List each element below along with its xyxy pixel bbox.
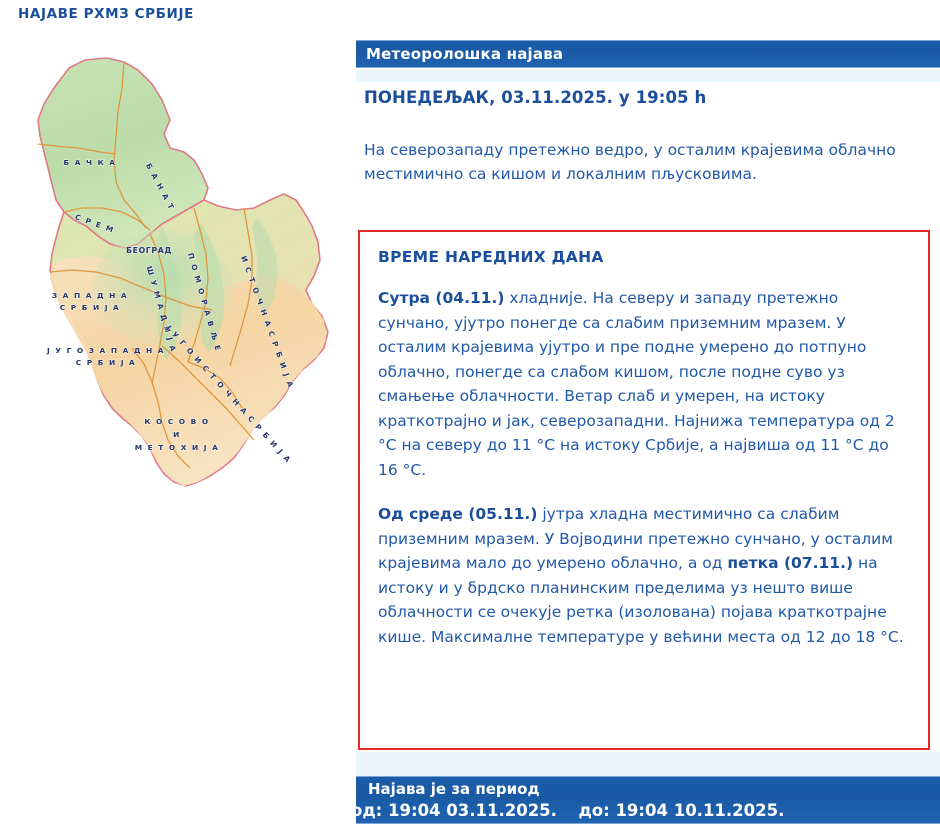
outlook-lead-tomorrow: Сутра (04.11.): [378, 289, 505, 307]
meteo-announcement-header-label: Метеоролошка најава: [366, 45, 563, 63]
svg-text:Ј У Г О З А П А Д Н А: Ј У Г О З А П А Д Н А: [46, 346, 165, 355]
period-from-value: 19:04 03.11.2025.: [388, 801, 557, 820]
validity-period-title: Најава је за период: [368, 780, 540, 798]
outlook-box: ВРЕМЕ НАРЕДНИХ ДАНА Сутра (04.11.) хладн…: [358, 230, 930, 750]
header-tint-band: [356, 69, 940, 82]
footer-tint-band: [356, 752, 940, 776]
forecast-content: Метеоролошка најава ПОНЕДЕЉАК, 03.11.202…: [352, 0, 940, 824]
validity-period-bar: Најава је за период од: 19:04 03.11.2025…: [356, 776, 940, 824]
period-to-value: 19:04 10.11.2025.: [615, 801, 784, 820]
svg-text:БЕОГРАД: БЕОГРАД: [126, 246, 172, 255]
outlook-body-tomorrow: хладније. На северу и западу претежно су…: [378, 289, 895, 479]
page-title: НАЈАВЕ РХМЗ СРБИЈЕ: [18, 6, 194, 22]
issue-datetime: ПОНЕДЕЉАК, 03.11.2025. у 19:05 h: [364, 88, 706, 107]
meteo-announcement-header: Метеоролошка најава: [356, 40, 940, 68]
outlook-paragraph-from-wednesday: Од среде (05.11.) јутра хладна местимичн…: [378, 502, 910, 649]
outlook-lead-wednesday: Од среде (05.11.): [378, 505, 537, 523]
svg-text:С Р Б И Ј А: С Р Б И Ј А: [76, 358, 137, 367]
map-panel: Б А Ч К А Б А Н А Т С Р Е М БЕОГРАД З А …: [0, 40, 352, 824]
svg-text:М Е Т О Х И Ј А: М Е Т О Х И Ј А: [135, 443, 220, 452]
svg-text:К О С О В О: К О С О В О: [144, 417, 209, 426]
validity-period-range: од: 19:04 03.11.2025. до: 19:04 10.11.20…: [356, 801, 784, 820]
outlook-paragraph-tomorrow: Сутра (04.11.) хладније. На северу и зап…: [378, 286, 910, 482]
svg-text:С Р Б И Ј А: С Р Б И Ј А: [60, 303, 121, 312]
outlook-lead-friday: петка (07.11.): [727, 554, 853, 572]
map-of-serbia-regions: Б А Ч К А Б А Н А Т С Р Е М БЕОГРАД З А …: [12, 48, 348, 548]
svg-text:И: И: [173, 430, 181, 439]
svg-text:Б А Ч К А: Б А Ч К А: [64, 158, 117, 167]
period-from-label: од:: [356, 801, 382, 820]
today-forecast-text: На северозападу претежно ведро, у остали…: [364, 138, 924, 186]
outlook-title: ВРЕМЕ НАРЕДНИХ ДАНА: [378, 248, 910, 266]
svg-text:З А П А Д Н А: З А П А Д Н А: [52, 291, 128, 300]
period-to-label: до:: [578, 801, 609, 820]
